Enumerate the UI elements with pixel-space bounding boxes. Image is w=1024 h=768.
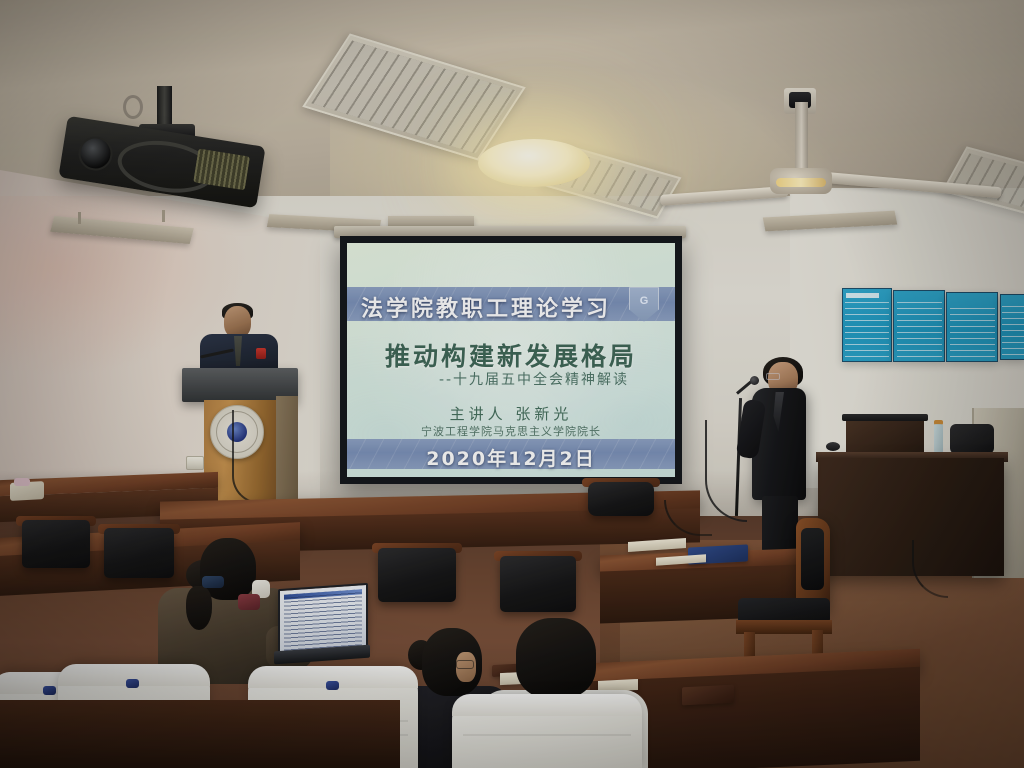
hair-tie bbox=[202, 576, 224, 588]
conference-chair bbox=[104, 528, 174, 578]
wall-poster bbox=[946, 292, 998, 362]
slide-title: 推动构建新发展格局 bbox=[347, 337, 675, 373]
ceiling-hook-icon bbox=[123, 95, 143, 119]
fan-light-glow bbox=[776, 178, 826, 187]
chair-cover-emblem-icon bbox=[326, 681, 339, 690]
projected-slide: 法学院教职工理论学习 G 推动构建新发展格局 --十九届五中全会精神解读 主讲人… bbox=[347, 243, 675, 477]
camera-bag bbox=[950, 424, 994, 454]
wall-outlet-icon bbox=[186, 456, 204, 470]
slide-speaker-line: 主讲人 张新光 bbox=[347, 403, 675, 424]
av-console bbox=[818, 458, 1004, 576]
chair-cover-emblem-icon bbox=[126, 679, 139, 688]
console-equipment bbox=[842, 414, 928, 421]
tissue-sheet bbox=[14, 478, 30, 486]
chair-cover bbox=[452, 694, 642, 768]
attendee-laptop-ponytail bbox=[186, 586, 212, 630]
conference-chair bbox=[500, 556, 576, 612]
laptop-document-text bbox=[284, 589, 362, 650]
conference-chair bbox=[378, 548, 456, 602]
wall-poster bbox=[1000, 294, 1024, 360]
slide-date: 2020年12月2日 bbox=[347, 444, 675, 471]
attendee-scarf bbox=[238, 594, 260, 610]
console-riser bbox=[846, 418, 924, 454]
computer-mouse-icon bbox=[826, 442, 840, 451]
podium-side-panel bbox=[276, 396, 298, 502]
conference-chair bbox=[588, 482, 654, 516]
lecture-hall-photo: 法学院教职工理论学习 G 推动构建新发展格局 --十九届五中全会精神解读 主讲人… bbox=[0, 0, 1024, 768]
water-bottle-icon bbox=[934, 424, 943, 454]
slide-badge-glyph: G bbox=[630, 295, 658, 307]
attendee-front-man-head bbox=[516, 618, 596, 698]
slide-affiliation: 宁波工程学院马克思主义学院院长 bbox=[347, 423, 675, 439]
wall-poster bbox=[842, 288, 892, 362]
glasses-icon bbox=[456, 660, 474, 669]
projector-lens-icon bbox=[76, 134, 115, 173]
presenter-glasses-icon bbox=[766, 373, 780, 380]
power-cable bbox=[232, 410, 260, 504]
rail-hanger bbox=[78, 212, 81, 224]
conference-chair bbox=[22, 520, 90, 568]
front-table-apron bbox=[0, 700, 400, 768]
wooden-chair-pad bbox=[801, 528, 824, 590]
wall-poster bbox=[893, 290, 945, 362]
notebook bbox=[682, 685, 734, 706]
microphone-icon bbox=[750, 376, 759, 385]
podium-speaker-badge bbox=[256, 348, 266, 359]
fan-downrod bbox=[795, 102, 808, 174]
slide-header-text: 法学院教职工理论学习 bbox=[361, 291, 623, 317]
chair-cover-emblem-icon bbox=[43, 686, 56, 695]
dome-light-icon bbox=[478, 139, 590, 187]
rail-hanger bbox=[162, 210, 165, 222]
slide-subtitle: --十九届五中全会精神解读 bbox=[347, 369, 675, 389]
